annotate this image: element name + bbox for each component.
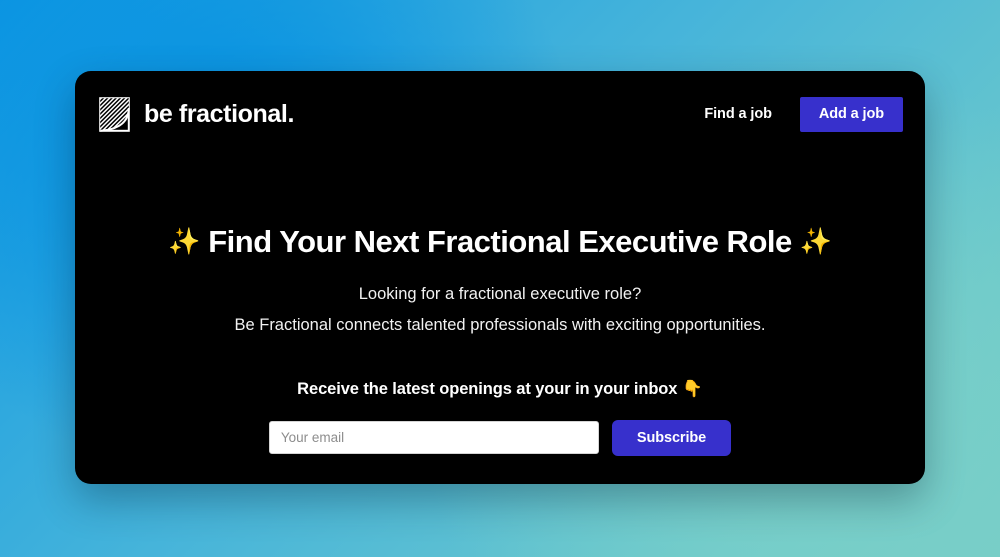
landing-card: be fractional. Find a job Add a job ✨ Fi… [75,71,925,484]
point-down-icon: 👇 [682,380,702,398]
page-title-text: Find Your Next Fractional Executive Role [208,224,792,259]
subscribe-form: Subscribe [269,420,731,456]
hero-subtitle-line-2: Be Fractional connects talented professi… [234,316,765,336]
page-viewport: be fractional. Find a job Add a job ✨ Fi… [0,0,1000,557]
brand-logo[interactable]: be fractional. [98,96,294,133]
site-header: be fractional. Find a job Add a job [75,71,925,157]
newsletter-cta-label: Receive the latest openings at your in y… [297,380,703,399]
sparkle-right-icon: ✨ [800,226,832,256]
page-title: ✨ Find Your Next Fractional Executive Ro… [168,225,832,259]
add-a-job-button[interactable]: Add a job [800,97,903,132]
nav-find-a-job[interactable]: Find a job [704,106,771,122]
hero-section: ✨ Find Your Next Fractional Executive Ro… [75,157,925,484]
hero-subtitle-line-1: Looking for a fractional executive role? [359,285,642,305]
sparkle-left-icon: ✨ [168,226,200,256]
header-nav: Find a job Add a job [704,97,903,132]
email-input[interactable] [269,421,599,454]
newsletter-cta-text: Receive the latest openings at your in y… [297,380,677,398]
brand-name: be fractional. [144,102,294,127]
subscribe-button[interactable]: Subscribe [612,420,731,456]
shield-hatched-leaf-icon [98,96,131,133]
